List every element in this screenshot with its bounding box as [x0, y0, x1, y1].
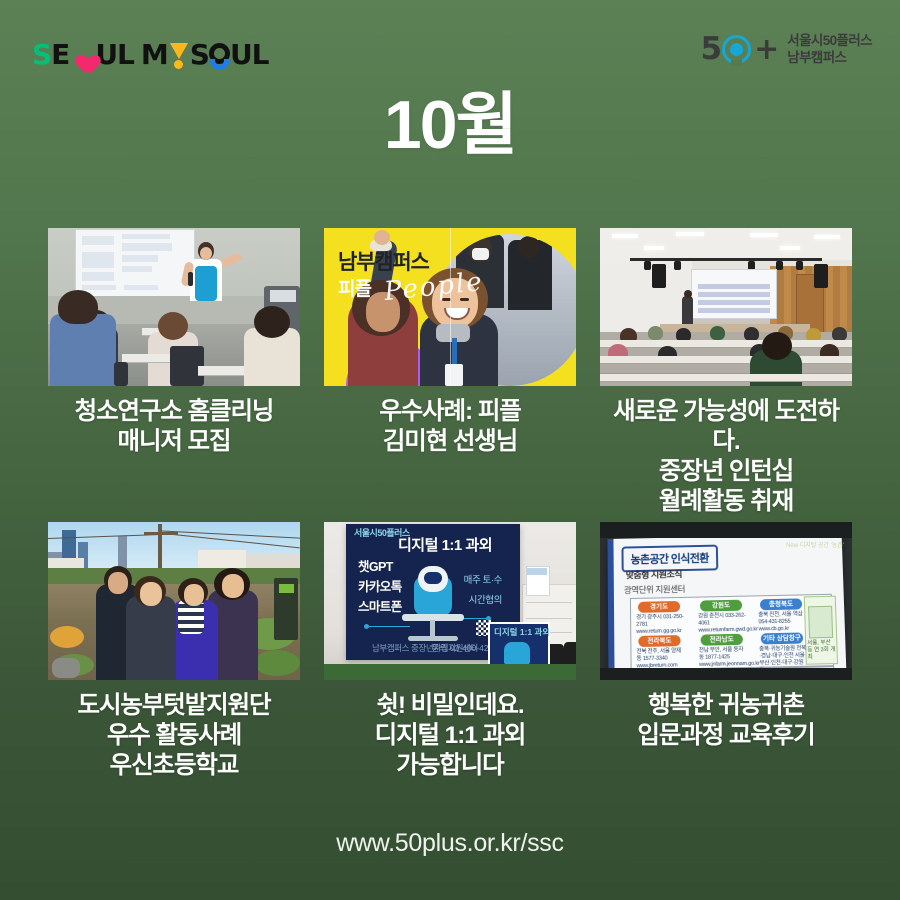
poster-root: SE UL M S UL 5 + 서울시50플러스 남부캠퍼스 10	[0, 0, 900, 900]
campus-logo-text: 서울시50플러스 남부캠퍼스	[787, 32, 872, 66]
campus-logo-line2: 남부캠퍼스	[787, 49, 872, 66]
slide-cell-text-4: 전남 무안, 서울 동자동 1877-1425 www.jnfarm.jeonn…	[699, 647, 748, 669]
photo-digital-tutoring-banner: 서울시50플러스 디지털 1:1 과외 챗GPT 카카오톡 스마트폰 매주 토·…	[324, 522, 576, 680]
photo-urban-garden-group	[48, 522, 300, 680]
card-1-caption: 청소연구소 홈클리닝 매니저 모집	[48, 397, 300, 457]
slide-cell-label-4: 전라남도	[701, 634, 743, 646]
footer-url[interactable]: www.50plus.or.kr/ssc	[0, 829, 900, 858]
card-row-1: 청소연구소 홈클리닝 매니저 모집	[0, 228, 900, 522]
slide-cell-text-2: 충북 진천, 서울 역삼 054-431-8255 www.cb.go.kr	[758, 611, 807, 633]
slide-cell-text-3: 전북 전주, 서울 양재동 1577-3340 www.jbreturn.com	[636, 648, 685, 670]
logo-letter-s: S	[32, 41, 51, 69]
card-3-caption: 새로운 가능성에 도전하다. 중장년 인턴십 월례활동 취재	[600, 397, 852, 517]
slide-surface: 농촌공간 인식전환 맞춤형 지원조직 광역단위 지원센터 경기도 강원도 충청북…	[608, 534, 847, 675]
photo-lecture-hall	[600, 228, 852, 386]
card-3[interactable]: 새로운 가능성에 도전하다. 중장년 인턴십 월례활동 취재	[600, 228, 852, 517]
banner-right-2: 시간협의	[469, 592, 502, 606]
photo-classroom-presenter	[48, 228, 300, 386]
slide-cell-label-3: 전라북도	[638, 635, 680, 647]
banner-right-1: 매주 토·수	[464, 572, 502, 586]
card-1[interactable]: 청소연구소 홈클리닝 매니저 모집	[48, 228, 300, 457]
slide-cell-label-1: 강원도	[700, 600, 742, 612]
fifty-plus-logo: 5 + 서울시50플러스 남부캠퍼스	[701, 32, 872, 66]
card-2-caption: 우수사례: 피플 김미현 선생님	[324, 397, 576, 457]
circle-o-icon	[722, 35, 751, 64]
smile-o-icon	[209, 41, 230, 69]
people-card-title: 남부캠퍼스	[338, 246, 429, 276]
card-4-thumbnail[interactable]	[48, 522, 300, 680]
logo-letter-e: E	[51, 41, 69, 69]
card-4[interactable]: 도시농부텃밭지원단 우수 활동사례 우신초등학교	[48, 522, 300, 781]
card-3-thumbnail[interactable]	[600, 228, 852, 386]
card-5-thumbnail[interactable]: 서울시50플러스 디지털 1:1 과외 챗GPT 카카오톡 스마트폰 매주 토·…	[324, 522, 576, 680]
exclamation-icon	[169, 42, 189, 69]
card-row-2: 도시농부텃밭지원단 우수 활동사례 우신초등학교 서울시50플러스 디지털 1:…	[0, 522, 900, 816]
card-5[interactable]: 서울시50플러스 디지털 1:1 과외 챗GPT 카카오톡 스마트폰 매주 토·…	[324, 522, 576, 781]
slide-cell-label-0: 경기도	[638, 601, 680, 613]
slide-corner-note: New 디지털 공간 '농촌'	[786, 540, 844, 549]
fifty-plus-mark: 5 +	[701, 34, 779, 65]
poster-header: SE UL M S UL 5 + 서울시50플러스 남부캠퍼스	[0, 0, 900, 92]
slide-cell-label-5: 기타 상담창구	[761, 632, 803, 644]
page-title: 10월	[0, 88, 900, 162]
banner-line-3: 스마트폰	[358, 596, 402, 615]
card-2-thumbnail[interactable]: 남부캠퍼스 피플 People	[324, 228, 576, 386]
card-5-caption: 쉿! 비밀인데요. 디지털 1:1 과외 가능합니다	[324, 691, 576, 781]
seoul-my-soul-logo: SE UL M S UL	[32, 40, 269, 70]
slide-cell-text-0: 경기 광주시 031-250-2781 www.return.gg.go.kr	[636, 614, 684, 636]
slide-cell-text-1: 강원 춘천시 033-262-4061 www.returnfarm.gwd.g…	[698, 613, 747, 635]
heart-icon	[70, 44, 94, 67]
slide-cell-label-2: 충청북도	[760, 598, 802, 610]
slide-bullet: 광역단위 지원센터	[624, 583, 685, 596]
card-6-caption: 행복한 귀농귀촌 입문과정 교육후기	[600, 691, 852, 751]
standing-poster-title: 디지털 1:1 과외	[494, 626, 550, 638]
photo-projected-slide: 농촌공간 인식전환 맞춤형 지원조직 광역단위 지원센터 경기도 강원도 충청북…	[600, 522, 852, 680]
fifty-digit-five: 5	[701, 34, 722, 65]
banner-line-1: 챗GPT	[358, 556, 393, 575]
logo-letter-m: M	[141, 41, 168, 69]
campus-logo-line1: 서울시50플러스	[787, 32, 872, 49]
banner-title: 디지털 1:1 과외	[398, 534, 492, 555]
card-4-caption: 도시농부텃밭지원단 우수 활동사례 우신초등학교	[48, 691, 300, 781]
photo-people-yellow-card: 남부캠퍼스 피플 People	[324, 228, 576, 386]
slide-subheader: 맞춤형 지원조직	[626, 567, 682, 581]
card-6-thumbnail[interactable]: 농촌공간 인식전환 맞춤형 지원조직 광역단위 지원센터 경기도 강원도 충청북…	[600, 522, 852, 680]
plus-icon: +	[754, 34, 778, 65]
card-1-thumbnail[interactable]	[48, 228, 300, 386]
slide-side-text: 서울, 부산 등 연 3회 개최	[807, 640, 836, 662]
logo-letters-ul-1: UL	[95, 41, 134, 69]
logo-letter-s2: S	[190, 41, 209, 69]
card-grid: 청소연구소 홈클리닝 매니저 모집	[0, 228, 900, 816]
card-2[interactable]: 남부캠퍼스 피플 People 우수사례: 피플 김미현 선생님	[324, 228, 576, 457]
banner-line-2: 카카오톡	[358, 576, 402, 595]
card-6[interactable]: 농촌공간 인식전환 맞춤형 지원조직 광역단위 지원센터 경기도 강원도 충청북…	[600, 522, 852, 751]
people-card-subtitle: 피플	[338, 274, 371, 301]
logo-letters-ul-2: UL	[230, 41, 269, 69]
